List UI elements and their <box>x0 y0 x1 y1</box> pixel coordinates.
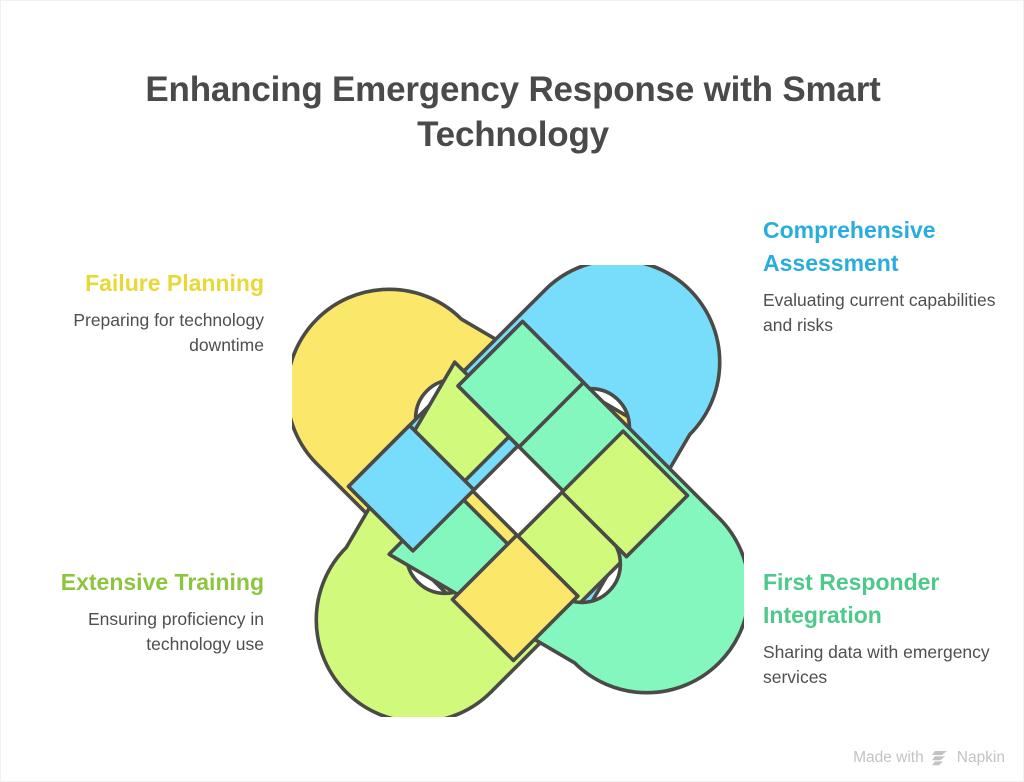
quadrant-heading-extensive-training: Extensive Training <box>9 566 264 599</box>
quadrant-heading-comprehensive-assessment: Comprehensive Assessment <box>763 214 1018 280</box>
watermark-brand-label: Napkin <box>957 749 1005 767</box>
napkin-watermark: Made with Napkin <box>853 749 1005 767</box>
quadrant-failure-planning: Failure Planning Preparing for technolog… <box>9 267 264 358</box>
quadrant-first-responder-integration: First Responder Integration Sharing data… <box>763 566 1018 690</box>
quadrant-heading-first-responder-integration: First Responder Integration <box>763 566 1018 632</box>
napkin-logo-icon <box>931 749 950 767</box>
quadrant-heading-failure-planning: Failure Planning <box>9 267 264 300</box>
page-title: Enhancing Emergency Response with Smart … <box>141 67 885 157</box>
interlocking-knot-diagram <box>292 265 744 717</box>
watermark-prefix-label: Made with <box>853 749 924 767</box>
knot-svg <box>292 265 744 717</box>
quadrant-description-extensive-training: Ensuring proficiency in technology use <box>9 607 264 657</box>
quadrant-extensive-training: Extensive Training Ensuring proficiency … <box>9 566 264 657</box>
quadrant-description-first-responder-integration: Sharing data with emergency services <box>763 640 1018 690</box>
quadrant-description-comprehensive-assessment: Evaluating current capabilities and risk… <box>763 288 1018 338</box>
quadrant-description-failure-planning: Preparing for technology downtime <box>9 308 264 358</box>
quadrant-comprehensive-assessment: Comprehensive Assessment Evaluating curr… <box>763 214 1018 338</box>
infographic-canvas: Enhancing Emergency Response with Smart … <box>0 0 1024 782</box>
